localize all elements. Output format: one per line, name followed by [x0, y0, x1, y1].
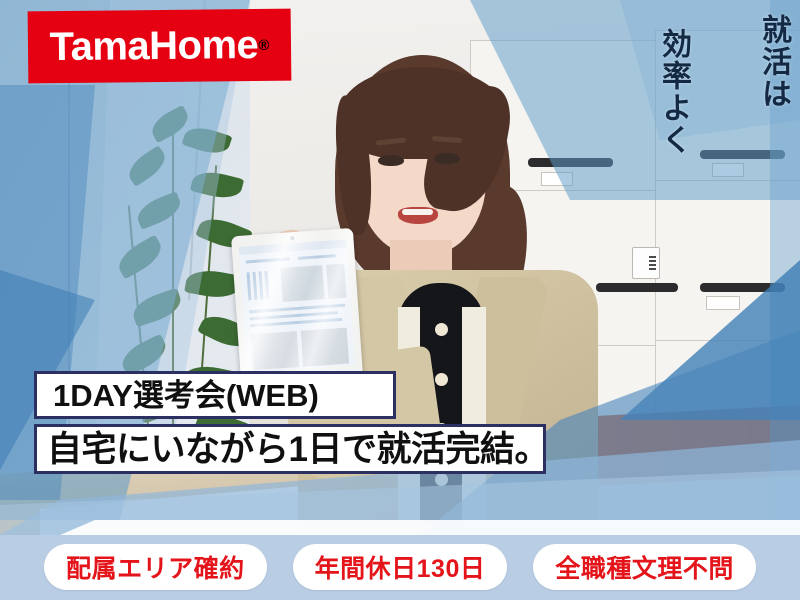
- plant-leaf: [190, 167, 244, 202]
- top-button: [435, 473, 448, 486]
- locker-handle: [700, 150, 785, 159]
- registered-trademark-icon: ®: [258, 36, 269, 53]
- locker-label: [712, 163, 744, 177]
- plant-leaf: [123, 145, 170, 187]
- tablet-screen-glare: [231, 228, 363, 384]
- teeth: [402, 209, 433, 215]
- plant-leaf: [133, 191, 184, 230]
- eye-left: [378, 155, 404, 166]
- inner-top-trim-right: [462, 307, 486, 523]
- badge-annual-holidays: 年間休日130日: [293, 544, 508, 590]
- badge-list: 配属エリア確約 年間休日130日 全職種文理不問: [0, 544, 800, 590]
- top-button: [435, 323, 448, 336]
- plant-leaf: [113, 235, 167, 280]
- vertical-catchcopy-secondary: 効率よく: [656, 28, 690, 156]
- locker-label: [706, 296, 740, 310]
- eye-right: [434, 153, 460, 164]
- recruitment-poster: TamaHome® 就活は 効率よく 1DAY選考会(WEB) 自宅にいながら1…: [0, 0, 800, 600]
- plant-leaf: [129, 288, 184, 327]
- logo-wordmark: TamaHome: [49, 25, 258, 67]
- tamahome-logo: TamaHome®: [28, 9, 292, 84]
- locker-handle: [700, 283, 785, 292]
- locker-panel: [655, 180, 800, 342]
- headline-box-event-name: 1DAY選考会(WEB): [34, 371, 396, 419]
- badge-area-guarantee: 配属エリア確約: [44, 544, 267, 590]
- locker-keypad: [632, 247, 660, 279]
- plant-leaf: [182, 122, 233, 158]
- tablet-device: [231, 228, 363, 384]
- headline-box-tagline: 自宅にいながら1日で就活完結。: [34, 424, 546, 474]
- bottom-badge-bar: 配属エリア確約 年間休日130日 全職種文理不問: [0, 535, 800, 600]
- top-button: [435, 373, 448, 386]
- vertical-catchcopy-primary: 就活は: [756, 14, 790, 110]
- badge-all-positions: 全職種文理不問: [533, 544, 756, 590]
